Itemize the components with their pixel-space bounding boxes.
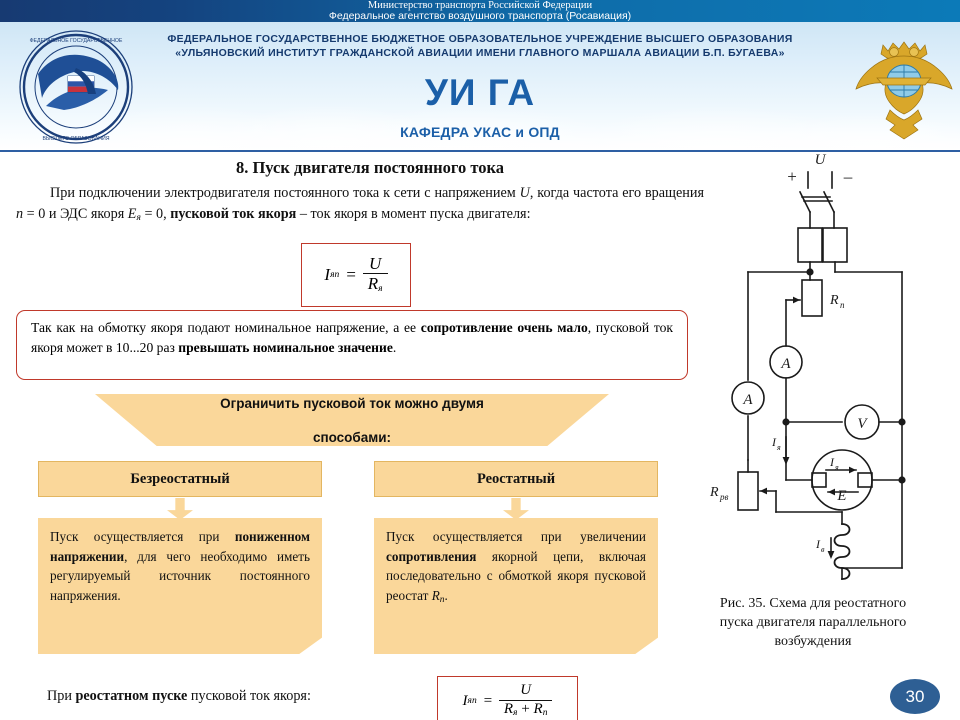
formula1-den-sub: я xyxy=(378,284,382,294)
label-minus-terminal: – xyxy=(843,167,853,186)
trapezoid-line-1: Ограничить пусковой ток можно двумя xyxy=(187,395,517,412)
intro-t5: – ток якоря в момент пуска двигателя: xyxy=(296,206,530,222)
bottom-sentence: При реостатном пуске пусковой ток якоря: xyxy=(47,688,311,705)
label-armature-current-motor-sub: я xyxy=(834,463,839,472)
note-b1: сопротивление очень мало xyxy=(421,320,588,335)
circuit-diagram-figure: U + – R п R рв A A V E I я I я I в xyxy=(690,150,960,590)
figure-caption: Рис. 35. Схема для реостатного пуска дви… xyxy=(676,594,950,651)
trapezoid-text: Ограничить пусковой ток можно двумя спос… xyxy=(187,395,517,446)
svg-text:ФЕДЕРАЛЬНОЕ ГОСУДАРСТВЕННОЕ: ФЕДЕРАЛЬНОЕ ГОСУДАРСТВЕННОЕ xyxy=(30,38,123,44)
label-field-rheostat-sub: рв xyxy=(719,492,729,502)
method-header-rheostat: Реостатный xyxy=(374,461,658,497)
label-ammeter-line: A xyxy=(742,392,753,408)
caption-line-2: пуска двигателя параллельного xyxy=(720,615,907,630)
down-arrow-icon-right xyxy=(503,498,529,520)
formula2-den2-sub: п xyxy=(543,708,548,718)
right-v1: R xyxy=(432,588,440,603)
ministry-banner: Министерство транспорта Российской Федер… xyxy=(0,0,960,22)
methods-trapezoid-banner: Ограничить пусковой ток можно двумя спос… xyxy=(95,394,609,446)
intro-v1: U xyxy=(520,185,530,201)
note-b2: превышать номинальное значение xyxy=(178,340,393,355)
left-t1: Пуск осуществляется при xyxy=(50,529,235,544)
label-ammeter-armature: A xyxy=(780,356,791,372)
caption-line-1: Рис. 35. Схема для реостатного xyxy=(720,596,906,611)
formula2-den1: R xyxy=(504,701,513,717)
formula2-equals: = xyxy=(477,693,499,710)
formula1-fraction: U Rя xyxy=(363,255,388,296)
label-starting-rheostat-sub: п xyxy=(840,300,845,310)
slide-page: Министерство транспорта Российской Федер… xyxy=(0,0,960,720)
page-number-badge: 30 xyxy=(890,679,940,714)
note-t3: . xyxy=(393,340,396,355)
down-arrow-icon-left xyxy=(167,498,193,520)
intro-t3: = 0 и ЭДС якоря xyxy=(23,206,128,222)
right-t1: Пуск осуществляется при увеличении xyxy=(386,529,646,544)
formula2-fraction: U Rя+Rп xyxy=(499,683,553,719)
intro-paragraph: При подключении электродвигателя постоян… xyxy=(16,183,704,229)
formula1-den-main: R xyxy=(368,274,378,293)
bottom-t2: пусковой ток якоря: xyxy=(187,688,311,704)
formula2-den2: R xyxy=(534,701,543,717)
rosaviatsia-eagle-emblem-icon xyxy=(852,26,956,148)
label-supply-voltage: U xyxy=(815,152,827,168)
formula2-plus: + xyxy=(517,701,533,717)
intro-t4: = 0, xyxy=(141,206,170,222)
label-emf: E xyxy=(836,488,846,504)
label-field-rheostat: R xyxy=(709,485,719,500)
formula2-numerator: U xyxy=(499,683,553,700)
note-t1: Так как на обмотку якоря подают номиналь… xyxy=(31,320,421,335)
intro-t1: При подключении электродвигателя постоян… xyxy=(50,185,520,201)
label-field-current-sub: в xyxy=(821,545,825,554)
formula1-lhs-sub: яп xyxy=(330,270,339,280)
institution-line-2: «УЛЬЯНОВСКИЙ ИНСТИТУТ ГРАЖДАНСКОЙ АВИАЦИ… xyxy=(130,47,830,59)
method-header-non-rheostat: Безреостатный xyxy=(38,461,322,497)
method-body-non-rheostat: Пуск осуществляется при пониженном напря… xyxy=(38,518,322,654)
formula-rheostat-starting-current: Iяп = U Rя+Rп xyxy=(437,676,578,720)
caption-line-3: возбуждения xyxy=(775,634,852,649)
warning-note-box: Так как на обмотку якоря подают номиналь… xyxy=(16,310,688,380)
formula1-numerator: U xyxy=(363,255,388,274)
page-title: 8. Пуск двигателя постоянного тока xyxy=(40,158,700,178)
formula1-equals: = xyxy=(339,265,362,285)
formula1-denominator: Rя xyxy=(363,273,388,295)
label-starting-rheostat: R xyxy=(829,293,839,308)
ministry-line-2: Федеральное агентство воздушного транспо… xyxy=(0,11,960,22)
institution-line-1: ФЕДЕРАЛЬНОЕ ГОСУДАРСТВЕННОЕ БЮДЖЕТНОЕ ОБ… xyxy=(130,33,830,45)
bottom-b1: реостатном пуске xyxy=(75,688,187,704)
formula-starting-current: Iяп = U Rя xyxy=(301,243,411,307)
institution-abbreviation: УИ ГА xyxy=(130,74,830,112)
bottom-t1: При xyxy=(47,688,75,704)
uiga-seal-icon: ФЕДЕРАЛЬНОЕ ГОСУДАРСТВЕННОЕ ВЫСШЕГО ОБРА… xyxy=(16,28,136,146)
right-t3: . xyxy=(445,588,448,603)
right-b1: сопротивления xyxy=(386,549,476,564)
label-plus-terminal: + xyxy=(787,167,797,186)
formula2-lhs-sub: яп xyxy=(468,696,477,706)
label-armature-current-left-sub: я xyxy=(776,443,781,452)
svg-text:ВЫСШЕГО ОБРАЗОВАНИЯ: ВЫСШЕГО ОБРАЗОВАНИЯ xyxy=(42,136,109,142)
department-name: КАФЕДРА УКАС и ОПД xyxy=(130,124,830,140)
trapezoid-line-2: способами: xyxy=(187,429,517,446)
intro-t2: , когда частота его вращения xyxy=(530,185,704,201)
method-body-rheostat: Пуск осуществляется при увеличении сопро… xyxy=(374,518,658,654)
intro-b1: пусковой ток якоря xyxy=(170,206,296,222)
label-voltmeter: V xyxy=(857,416,868,432)
formula2-denominator: Rя+Rп xyxy=(499,700,553,719)
